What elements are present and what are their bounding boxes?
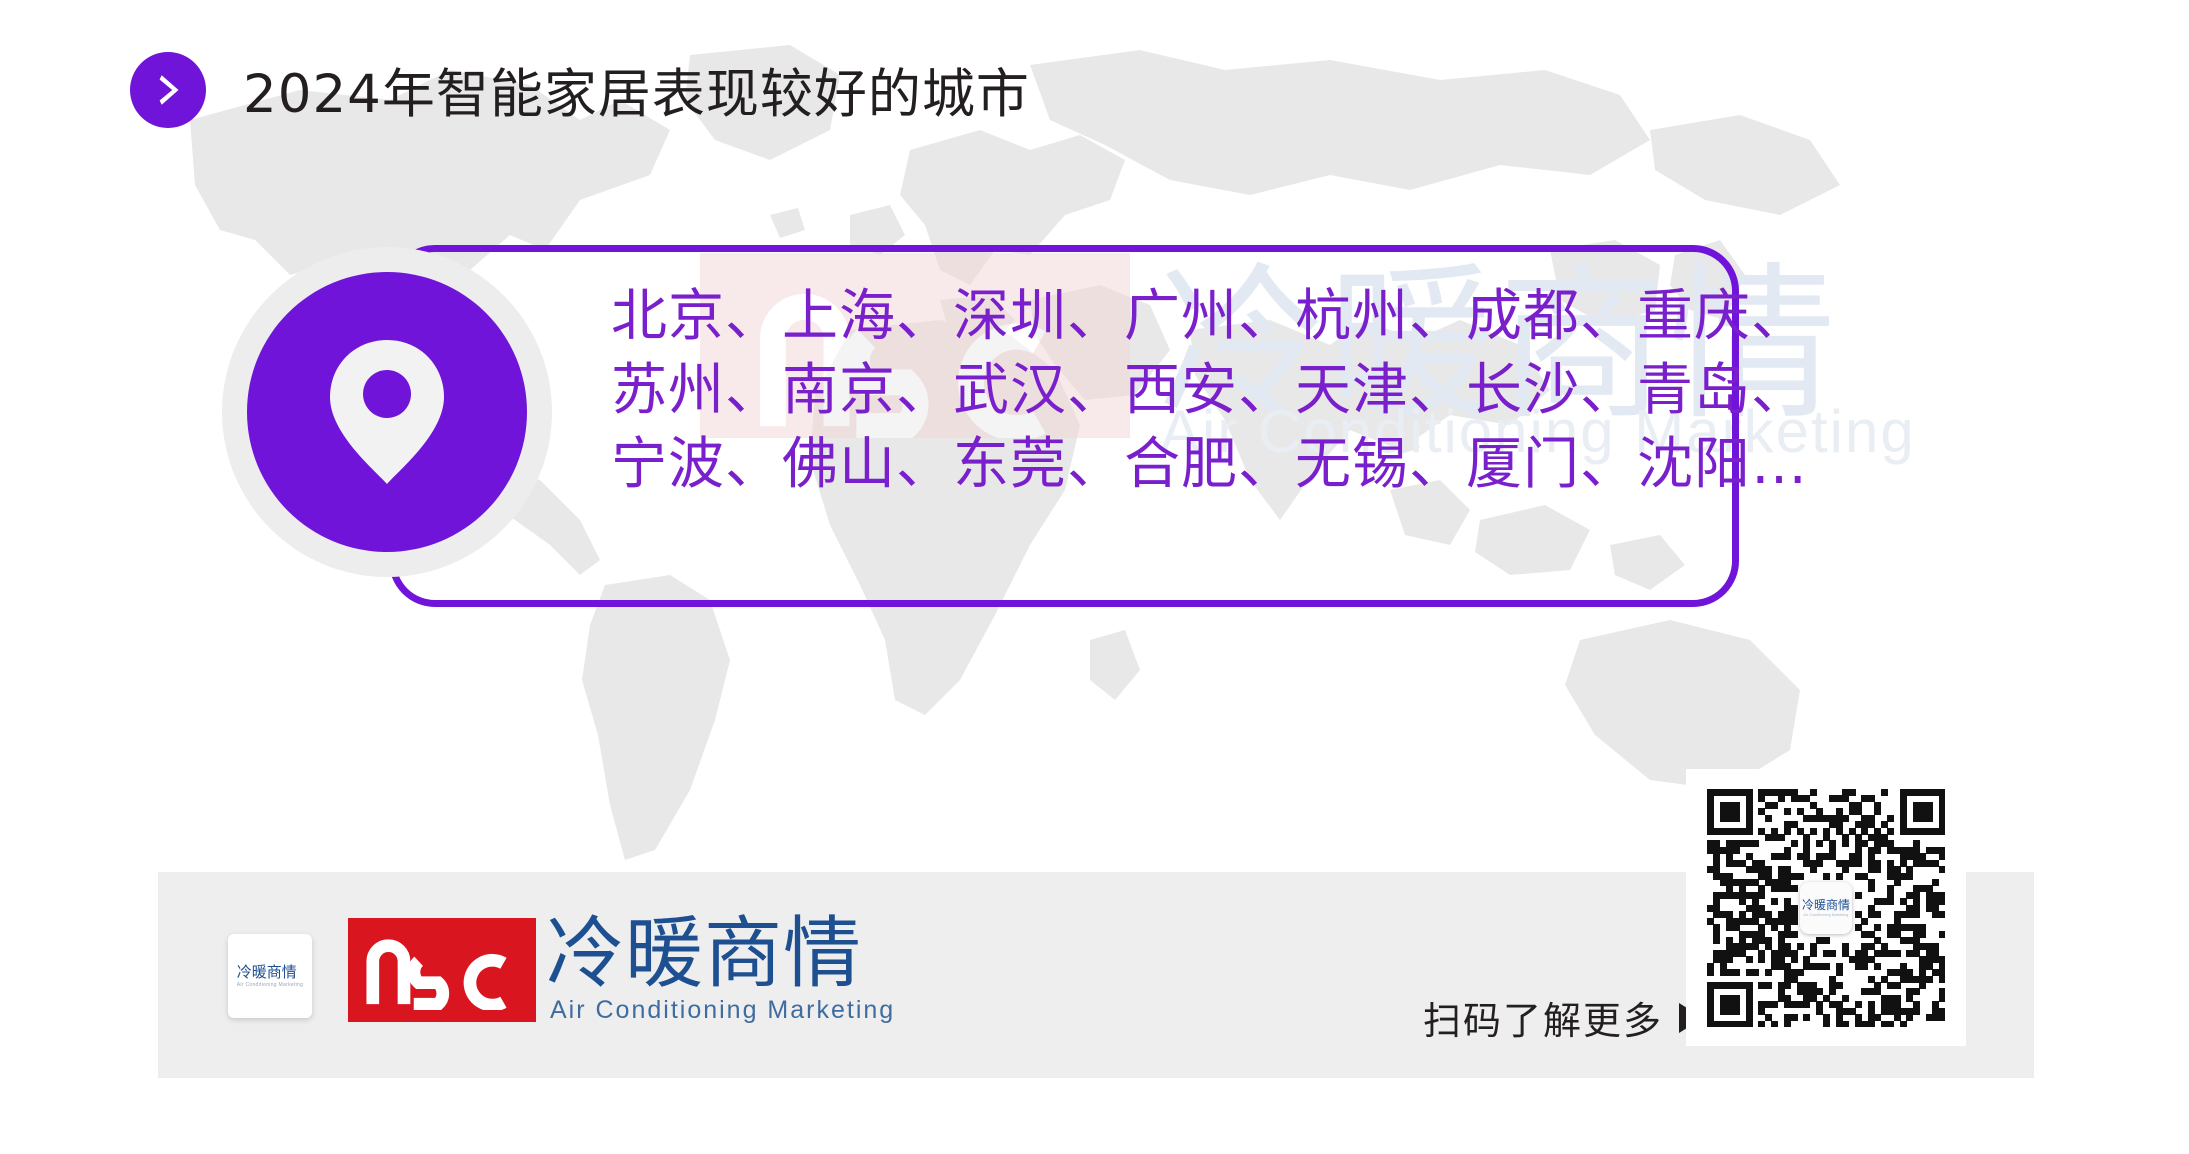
app-tile-icon: 冷暖商情 Air Conditioning Marketing	[228, 934, 312, 1018]
cities-line-1: 北京、上海、深圳、广州、杭州、成都、重庆、	[611, 280, 1721, 354]
location-badge	[222, 247, 572, 605]
scan-prompt: 扫码了解更多	[1423, 990, 1703, 1045]
map-pin-icon	[247, 272, 527, 552]
chevron-right-icon	[130, 52, 206, 128]
poster-root: 冷暖商情 Air Conditioning Marketing 2024年智能家…	[0, 0, 2189, 1154]
page-title: 2024年智能家居表现较好的城市	[243, 52, 1030, 128]
qr-center-logo: 冷暖商情 Air Conditioning Marketing	[1800, 882, 1852, 934]
brand-name-cn: 冷暖商情	[546, 918, 895, 991]
qr-center-label-en: Air Conditioning Marketing	[1804, 913, 1849, 917]
app-tile-label-en: Air Conditioning Marketing	[237, 982, 303, 988]
app-tile-label-cn: 冷暖商情	[237, 965, 303, 980]
qr-code-card[interactable]: 冷暖商情 Air Conditioning Marketing	[1686, 769, 1966, 1046]
qr-code-image: 冷暖商情 Air Conditioning Marketing	[1707, 789, 1945, 1027]
brand-logo: 冷暖商情 Air Conditioning Marketing	[348, 918, 895, 1025]
brand-name-en: Air Conditioning Marketing	[550, 996, 895, 1025]
nsc-logo-mark	[348, 918, 536, 1022]
cities-text: 北京、上海、深圳、广州、杭州、成都、重庆、 苏州、南京、武汉、西安、天津、长沙、…	[611, 280, 1721, 502]
cities-line-2: 苏州、南京、武汉、西安、天津、长沙、青岛、	[611, 354, 1721, 428]
qr-center-label-cn: 冷暖商情	[1802, 899, 1850, 911]
scan-prompt-text: 扫码了解更多	[1423, 990, 1663, 1045]
cities-callout-bubble: 北京、上海、深圳、广州、杭州、成都、重庆、 苏州、南京、武汉、西安、天津、长沙、…	[389, 245, 1739, 607]
cities-line-3: 宁波、佛山、东莞、合肥、无锡、厦门、沈阳…	[611, 428, 1721, 502]
page-header: 2024年智能家居表现较好的城市	[130, 52, 1030, 128]
